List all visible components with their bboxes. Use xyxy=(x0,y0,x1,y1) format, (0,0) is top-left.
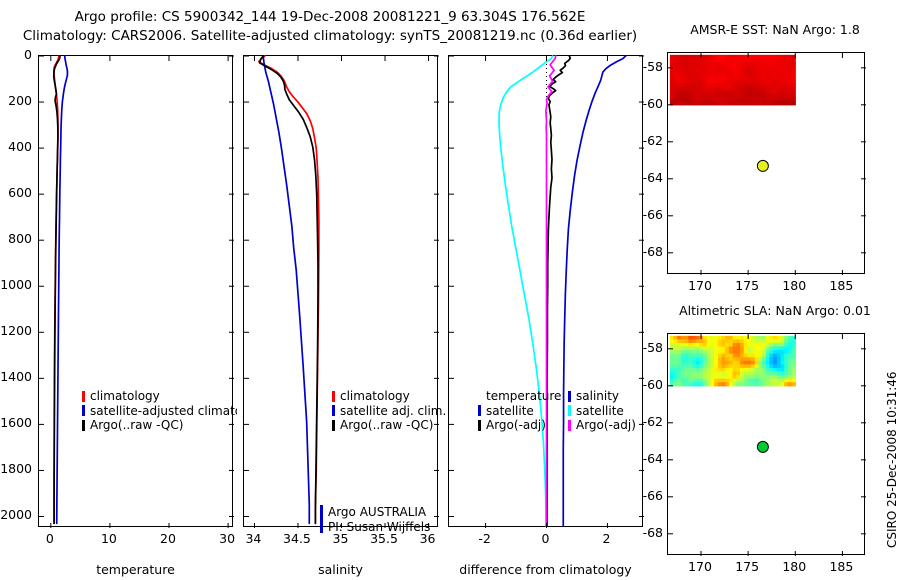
x-tick-label: 0 xyxy=(30,531,70,546)
series-argo-raw-qc- xyxy=(260,56,318,523)
difference-panel[interactable] xyxy=(448,55,643,527)
series-salinity-satellite xyxy=(563,56,625,526)
difference-legend-right-row: Argo(-adj) xyxy=(568,418,636,433)
sst-map-title: AMSR-E SST: NaN Argo: 1.8 xyxy=(655,22,895,37)
temperature-xlabel: temperature xyxy=(38,562,233,577)
map-y-tick-label: -60 xyxy=(627,96,663,111)
x-tick-label: 34.5 xyxy=(277,531,317,546)
title-line-2: Climatology: CARS2006. Satellite-adjuste… xyxy=(0,27,660,46)
map-x-tick-label: 180 xyxy=(774,278,814,293)
argo-profile-figure: Argo profile: CS 5900342_144 19-Dec-2008… xyxy=(0,0,900,580)
y-tick-label: 1400 xyxy=(0,369,32,384)
legend-label: satellite adj. clim. xyxy=(340,404,446,419)
x-tick-label: 10 xyxy=(89,531,129,546)
program-label: Argo AUSTRALIA xyxy=(328,505,430,520)
sla-map-profile-marker[interactable] xyxy=(757,441,768,452)
map-x-tick-label: 185 xyxy=(821,278,861,293)
y-tick-label: 1200 xyxy=(0,323,32,338)
map-y-tick-label: -66 xyxy=(627,207,663,222)
salinity-panel[interactable] xyxy=(243,55,438,527)
temperature-legend-row: climatology xyxy=(82,389,237,404)
temperature-profile-plot xyxy=(39,56,234,528)
series-temperature-argo-adj- xyxy=(547,56,570,526)
timestamp-label: CSIRO 25-Dec-2008 10:31:46 xyxy=(885,371,899,548)
y-tick-label: 800 xyxy=(0,231,32,246)
salinity-legend-row: climatology xyxy=(332,389,446,404)
map-y-tick-label: -62 xyxy=(627,133,663,148)
y-tick-label: 0 xyxy=(0,47,32,62)
legend-color-swatch xyxy=(82,420,85,431)
x-tick-label: 20 xyxy=(148,531,188,546)
map-x-tick-label: 170 xyxy=(680,278,720,293)
y-tick-label: 1000 xyxy=(0,277,32,292)
temperature-legend-row: Argo(..raw -QC) xyxy=(82,418,237,433)
figure-title: Argo profile: CS 5900342_144 19-Dec-2008… xyxy=(0,8,660,46)
x-tick-label: -2 xyxy=(465,531,505,546)
temperature-legend: climatologysatellite-adjusted climatoloA… xyxy=(82,389,237,433)
sst-map-panel[interactable] xyxy=(667,52,865,274)
difference-legend-left-row: temperature xyxy=(478,389,561,404)
map-y-tick-label: -64 xyxy=(627,170,663,185)
y-tick-label: 1800 xyxy=(0,461,32,476)
title-line-1: Argo profile: CS 5900342_144 19-Dec-2008… xyxy=(0,8,660,27)
y-tick-label: 200 xyxy=(0,93,32,108)
sla-map-plot xyxy=(668,334,866,556)
salinity-xlabel: salinity xyxy=(243,562,438,577)
difference-legend-left-row: satellite xyxy=(478,404,561,419)
salinity-legend-row: satellite adj. clim. xyxy=(332,404,446,419)
difference-legend-left: temperaturesatelliteArgo(-adj) xyxy=(478,389,561,433)
temperature-legend-row: satellite-adjusted climatolo xyxy=(82,404,237,419)
legend-label: Argo(..raw -QC) xyxy=(340,418,433,433)
difference-legend-right: salinitysatelliteArgo(-adj) xyxy=(568,389,636,433)
program-swatch xyxy=(320,505,323,533)
sla-map-title: Altimetric SLA: NaN Argo: 0.01 xyxy=(655,303,895,318)
map-y-tick-label: -68 xyxy=(627,244,663,259)
map-y-tick-label: -58 xyxy=(627,59,663,74)
map-x-tick-label: 185 xyxy=(821,559,861,574)
legend-color-swatch xyxy=(568,391,571,402)
salinity-legend-row: Argo(..raw -QC) xyxy=(332,418,446,433)
x-tick-label: 2 xyxy=(586,531,626,546)
sst-map-profile-marker[interactable] xyxy=(757,160,768,171)
map-x-tick-label: 175 xyxy=(727,559,767,574)
legend-color-swatch xyxy=(568,405,571,416)
legend-color-swatch xyxy=(478,420,481,431)
legend-label: Argo(..raw -QC) xyxy=(90,418,183,433)
y-tick-label: 600 xyxy=(0,185,32,200)
y-tick-label: 1600 xyxy=(0,415,32,430)
series-satellite-adj-clim- xyxy=(263,56,309,523)
pi-label: PI: Susan Wijffels xyxy=(328,520,430,535)
legend-label: satellite-adjusted climatolo xyxy=(90,404,237,419)
series-climatology xyxy=(259,56,319,523)
difference-legend-left-row: Argo(-adj) xyxy=(478,418,561,433)
legend-label: Argo(-adj) xyxy=(486,418,546,433)
legend-color-swatch xyxy=(82,405,85,416)
legend-color-swatch xyxy=(568,420,571,431)
argo-australia-annotation: Argo AUSTRALIA PI: Susan Wijffels xyxy=(320,505,430,534)
sst-map-heatmap-cells xyxy=(670,55,796,106)
legend-color-swatch xyxy=(332,391,335,402)
map-y-tick-label: -68 xyxy=(627,525,663,540)
y-tick-label: 2000 xyxy=(0,507,32,522)
legend-color-swatch xyxy=(478,405,481,416)
series-temperature-satellite xyxy=(499,56,553,526)
legend-color-swatch xyxy=(332,405,335,416)
map-y-tick-label: -60 xyxy=(627,377,663,392)
salinity-legend: climatologysatellite adj. clim.Argo(..ra… xyxy=(332,389,446,433)
x-tick-label: 34 xyxy=(233,531,273,546)
sla-map-heatmap-cells xyxy=(670,336,796,387)
difference-legend-right-row: salinity xyxy=(568,389,636,404)
legend-color-swatch xyxy=(478,391,481,402)
map-y-tick-label: -62 xyxy=(627,414,663,429)
salinity-profile-plot xyxy=(244,56,439,528)
map-y-tick-label: -66 xyxy=(627,488,663,503)
difference-xlabel: difference from climatology xyxy=(423,562,668,577)
legend-label: climatology xyxy=(90,389,160,404)
legend-label: salinity xyxy=(576,389,619,404)
legend-label: satellite xyxy=(486,404,534,419)
legend-label: climatology xyxy=(340,389,410,404)
legend-label: satellite xyxy=(576,404,624,419)
x-tick-label: 0 xyxy=(526,531,566,546)
map-y-tick-label: -58 xyxy=(627,340,663,355)
difference-legend-right-row: satellite xyxy=(568,404,636,419)
map-x-tick-label: 180 xyxy=(774,559,814,574)
difference-profile-plot xyxy=(449,56,644,528)
y-tick-label: 400 xyxy=(0,139,32,154)
sst-map-plot xyxy=(668,53,866,275)
legend-label: temperature xyxy=(486,389,561,404)
legend-color-swatch xyxy=(332,420,335,431)
map-x-tick-label: 175 xyxy=(727,278,767,293)
map-y-tick-label: -64 xyxy=(627,451,663,466)
temperature-panel[interactable] xyxy=(38,55,233,527)
map-x-tick-label: 170 xyxy=(680,559,720,574)
sla-map-panel[interactable] xyxy=(667,333,865,555)
legend-color-swatch xyxy=(82,391,85,402)
